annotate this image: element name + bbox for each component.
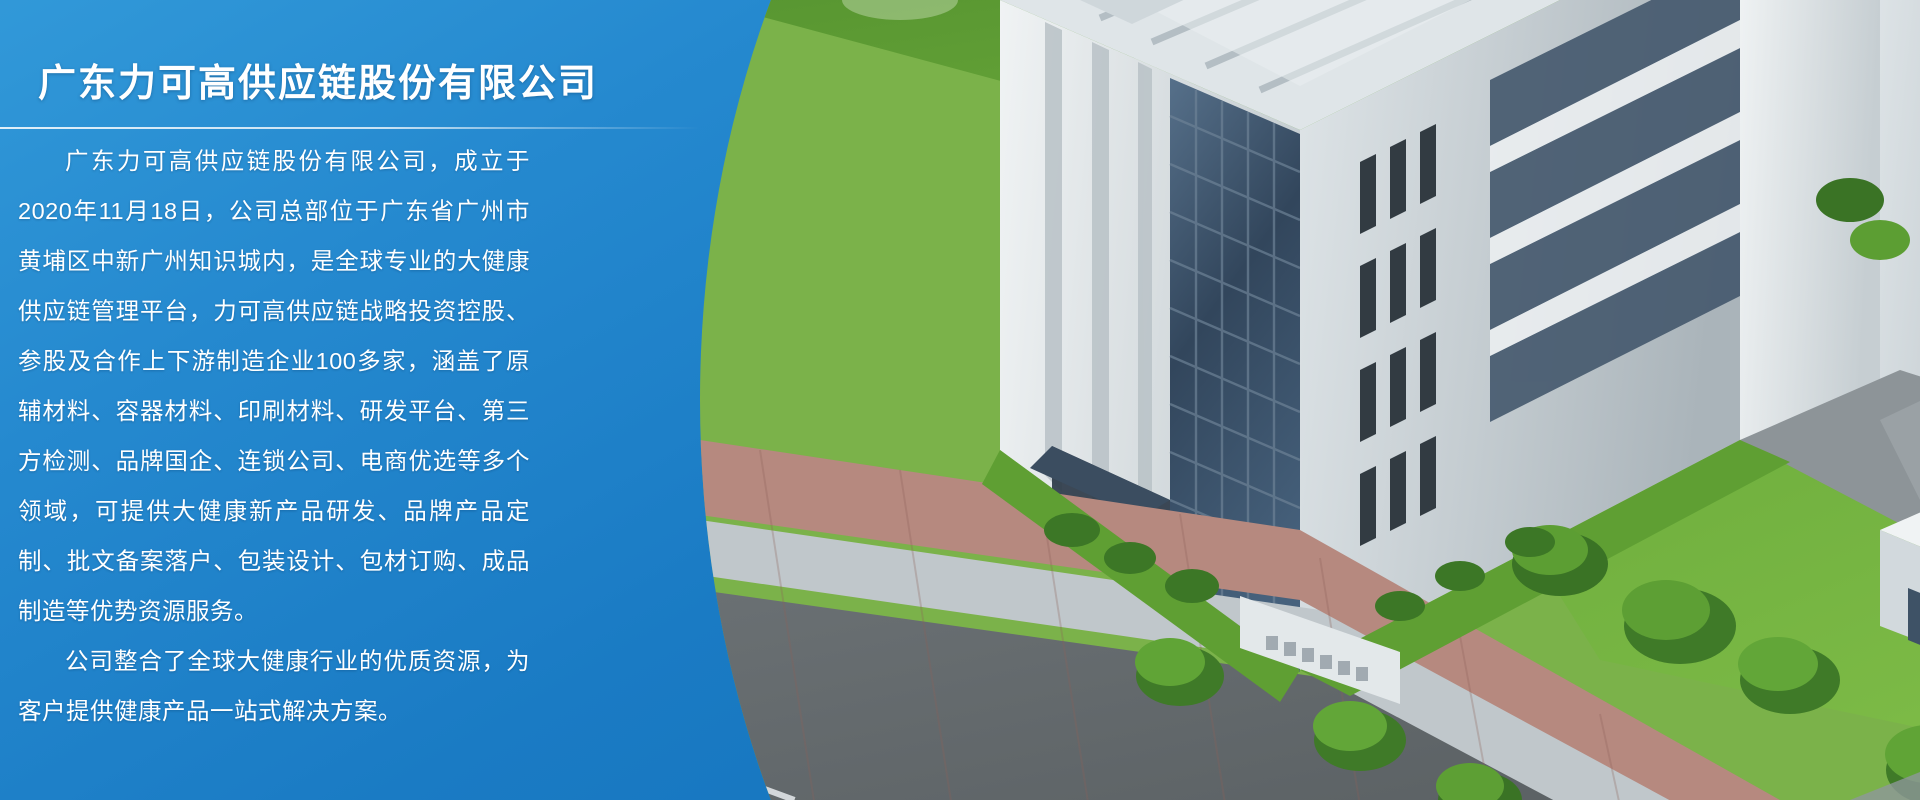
page-title: 广东力可高供应链股份有限公司 — [38, 52, 598, 107]
company-description: 广东力可高供应链股份有限公司，成立于2020年11月18日，公司总部位于广东省广… — [18, 136, 530, 736]
description-paragraph-2: 公司整合了全球大健康行业的优质资源，为客户提供健康产品一站式解决方案。 — [18, 636, 530, 736]
title-divider — [0, 127, 700, 129]
company-profile-banner: 广东力可高供应链股份有限公司 广东力可高供应链股份有限公司，成立于2020年11… — [0, 0, 1920, 800]
description-paragraph-1: 广东力可高供应链股份有限公司，成立于2020年11月18日，公司总部位于广东省广… — [18, 136, 530, 636]
building-photo — [700, 0, 1920, 800]
text-column: 广东力可高供应链股份有限公司 广东力可高供应链股份有限公司，成立于2020年11… — [0, 0, 640, 800]
